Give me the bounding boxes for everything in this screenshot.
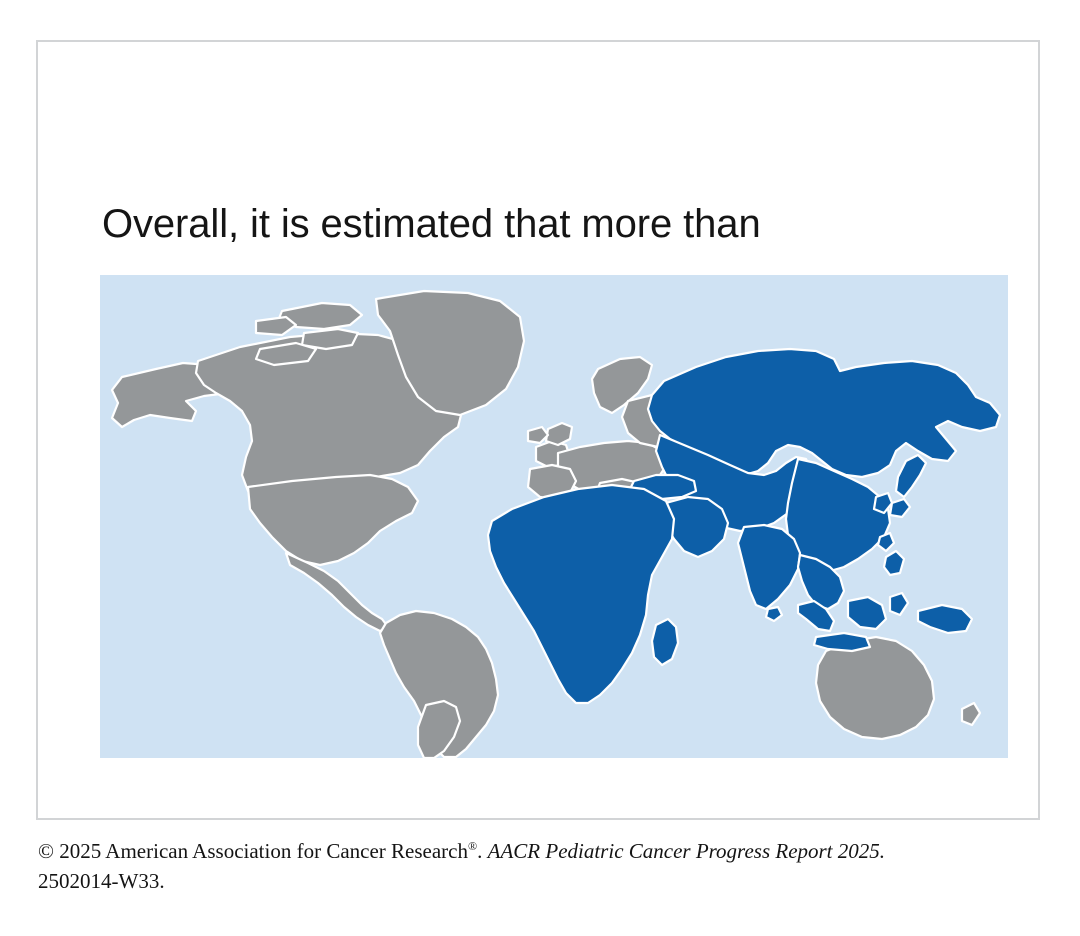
registered-trademark-mark: ® — [468, 839, 477, 853]
footer-report-title: AACR Pediatric Cancer Progress Report 20… — [488, 839, 885, 863]
world-map-panel: #neutral-land path { fill: #949799; stro… — [100, 275, 1008, 758]
infographic-root: Overall, it is estimated that more than … — [0, 0, 1080, 936]
footer-caption: © 2025 American Association for Cancer R… — [38, 836, 1048, 896]
footer-copyright: © 2025 American Association for Cancer R… — [38, 839, 468, 863]
footer-copyright-suffix: . — [477, 839, 488, 863]
footer-caption-line-2: 2502014-W33. — [38, 866, 1048, 896]
headline-line-1: Overall, it is estimated that more than — [102, 196, 992, 253]
region-arctic-island-mid — [302, 329, 358, 349]
world-map-svg: #neutral-land path { fill: #949799; stro… — [100, 275, 1008, 758]
footer-caption-line-1: © 2025 American Association for Cancer R… — [38, 836, 1048, 866]
region-java — [814, 633, 870, 651]
footer-code: 2502014-W33. — [38, 869, 165, 893]
headline-line-1-text: Overall, it is estimated that more than — [102, 202, 761, 246]
